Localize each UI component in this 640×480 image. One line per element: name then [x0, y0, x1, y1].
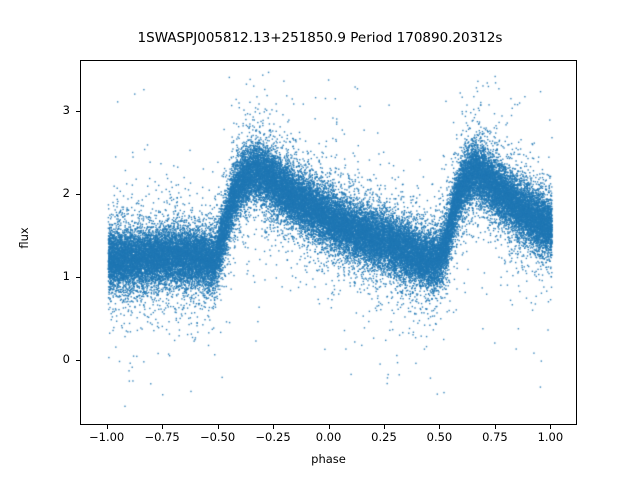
x-tick-mark — [107, 425, 108, 429]
page-title: 1SWASPJ005812.13+251850.9 Period 170890.… — [0, 30, 640, 46]
x-tick-mark — [495, 425, 496, 429]
y-tick-label: 2 — [0, 186, 70, 200]
x-axis-label: phase — [80, 452, 577, 466]
y-tick-mark — [76, 277, 80, 278]
y-tick-mark — [76, 111, 80, 112]
x-tick-mark — [162, 425, 163, 429]
x-tick-mark — [384, 425, 385, 429]
plot-axes-area — [80, 60, 577, 425]
figure-canvas: 1SWASPJ005812.13+251850.9 Period 170890.… — [0, 0, 640, 480]
x-tick-mark — [218, 425, 219, 429]
y-tick-label: 1 — [0, 269, 70, 283]
x-tick-mark — [329, 425, 330, 429]
y-tick-mark — [76, 360, 80, 361]
x-tick-mark — [439, 425, 440, 429]
x-tick-mark — [273, 425, 274, 429]
y-axis-label: flux — [17, 198, 31, 278]
scatter-plot-points — [81, 61, 577, 425]
y-tick-label: 3 — [0, 103, 70, 117]
y-tick-mark — [76, 194, 80, 195]
x-tick-mark — [550, 425, 551, 429]
x-tick-label: 1.00 — [515, 430, 585, 444]
y-tick-label: 0 — [0, 352, 70, 366]
